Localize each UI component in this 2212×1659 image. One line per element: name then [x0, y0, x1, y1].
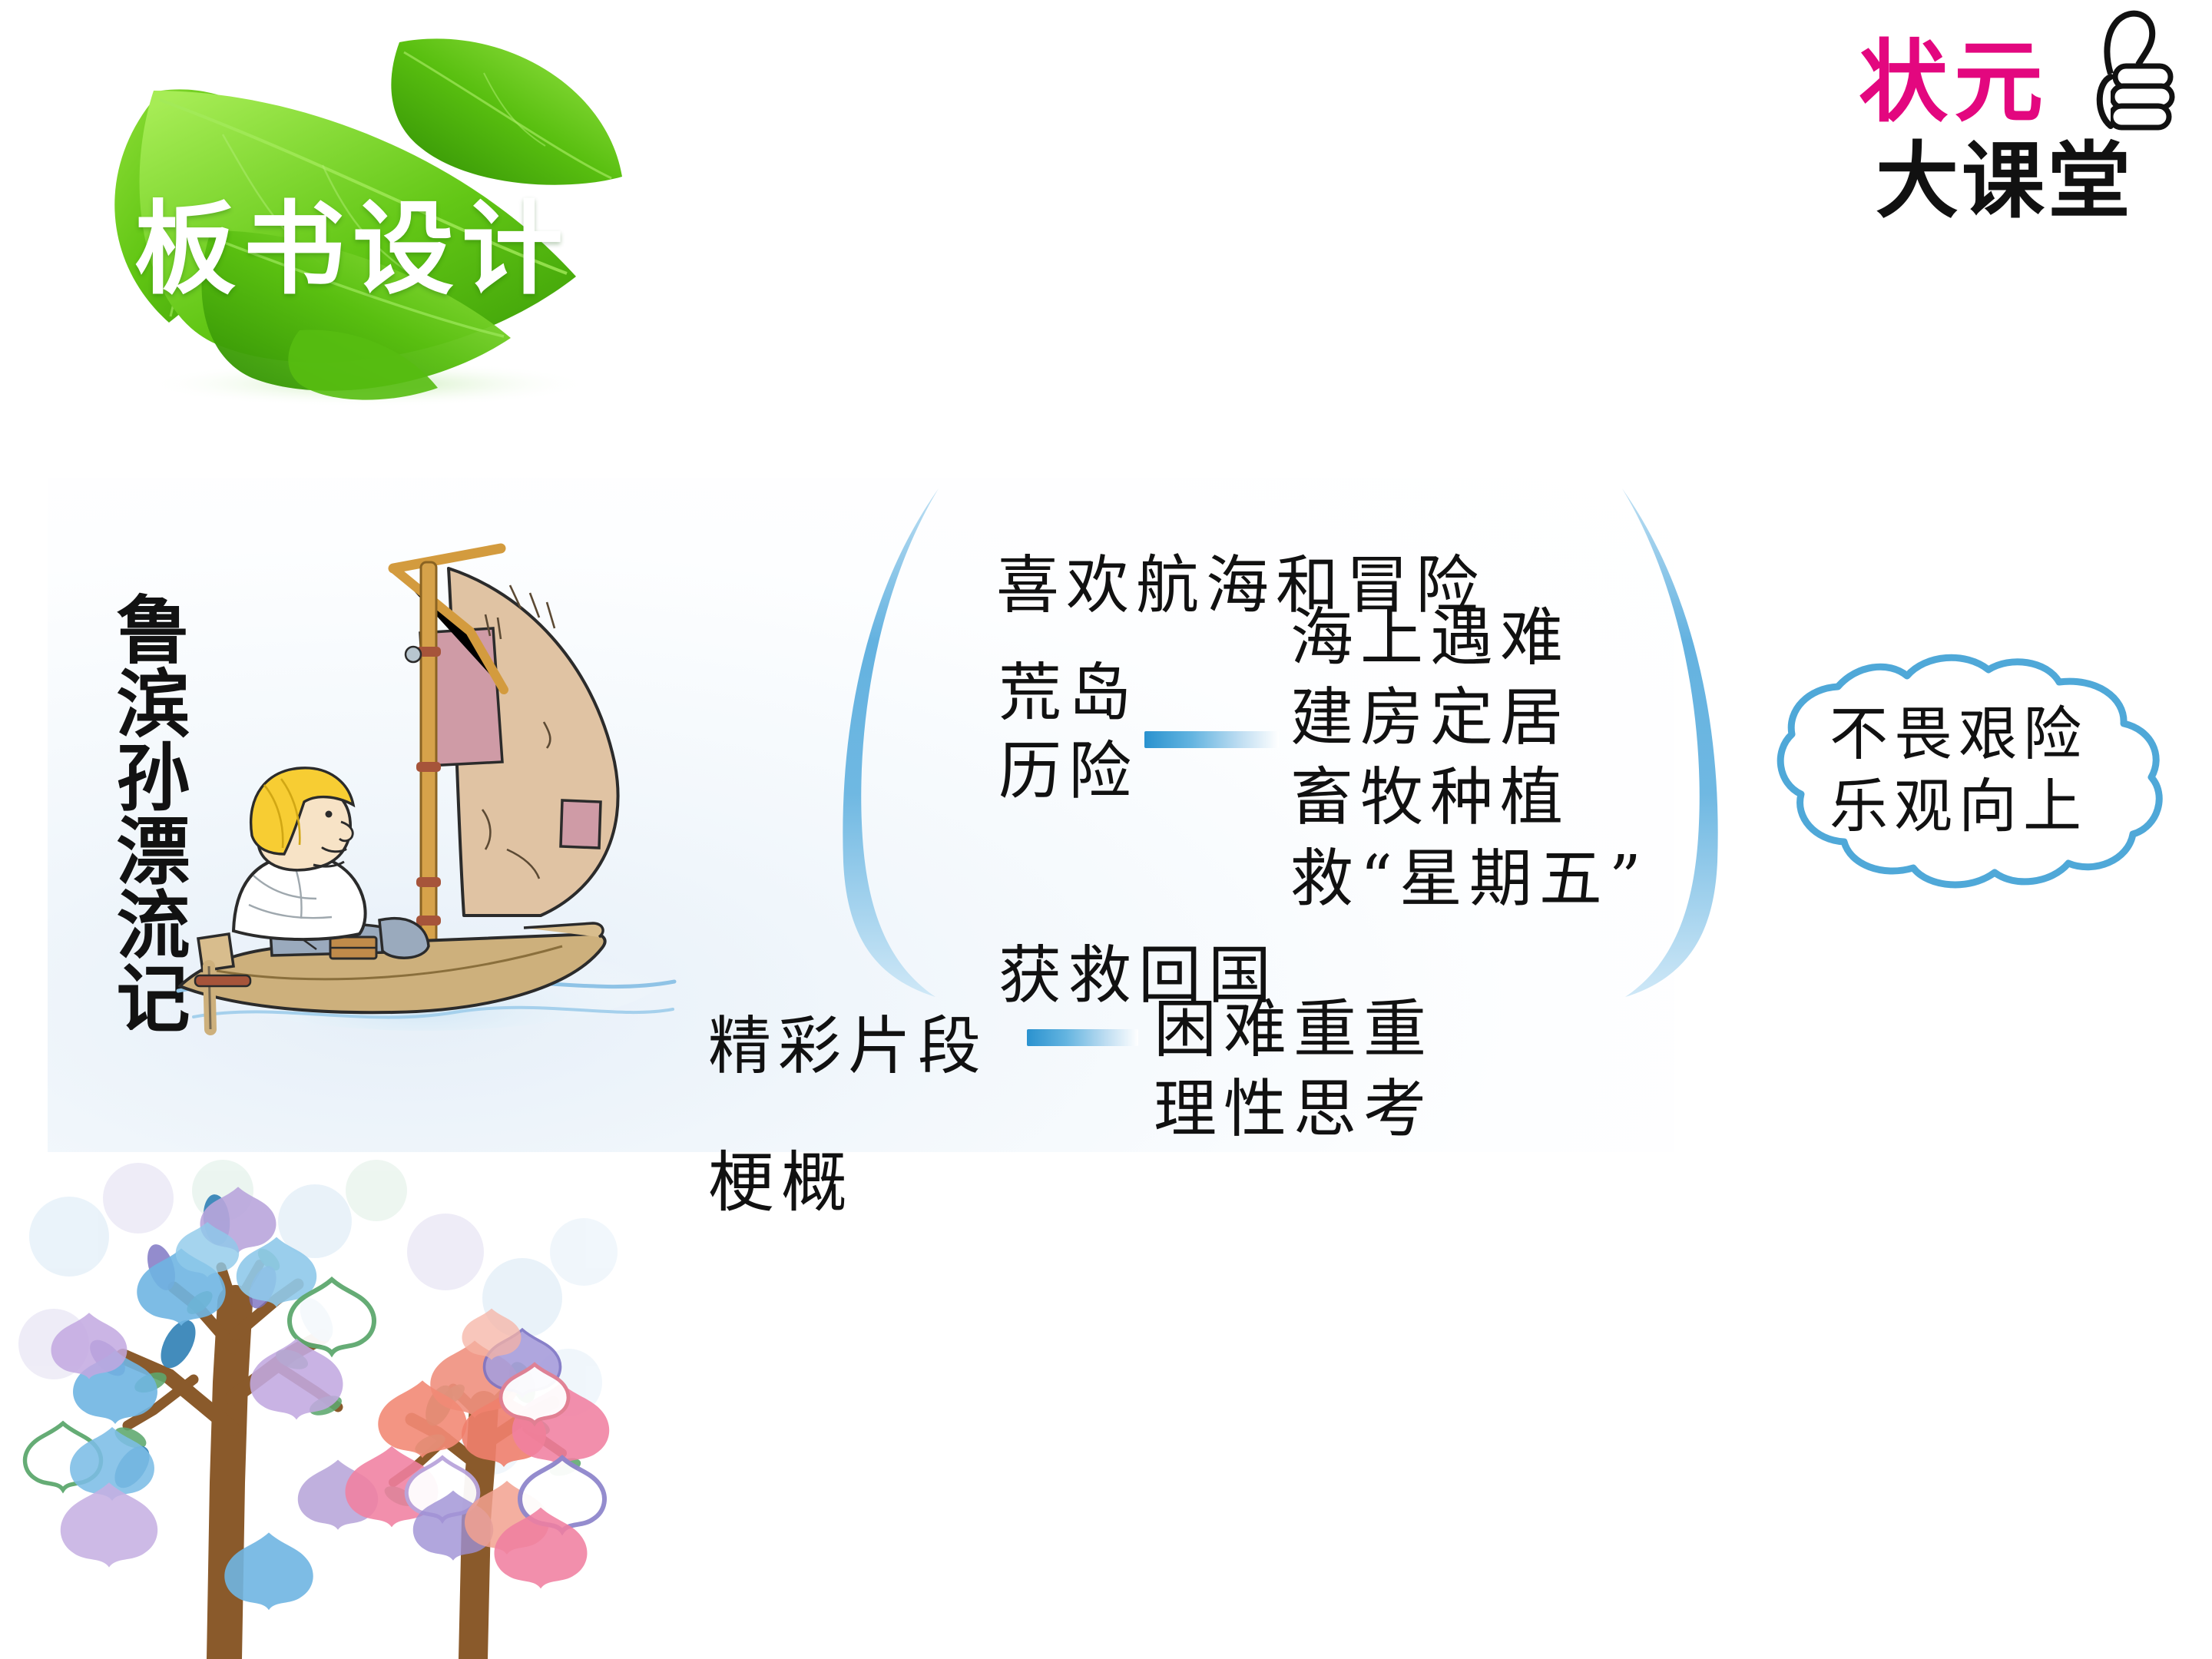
large-right-paren-icon	[1607, 485, 1737, 1000]
blossom-trees-icon	[15, 1152, 630, 1659]
excerpt-item-1: 理性思考	[1154, 1078, 1433, 1141]
summary-label: 梗概	[708, 1150, 854, 1216]
excerpt-label: 精彩片段	[708, 1015, 988, 1078]
island-label-line1: 荒岛	[998, 662, 1138, 725]
board-panel: 鲁滨孙漂流记	[48, 478, 1674, 1152]
excerpt-connector-bar	[1027, 1029, 1138, 1046]
island-connector-bar	[1144, 731, 1279, 748]
sailboat-castaway-icon	[163, 531, 685, 1054]
cloud-line-2: 乐观向上	[1830, 777, 2088, 836]
excerpt-item-0: 困难重重	[1154, 998, 1433, 1061]
island-label-line2: 历险	[998, 740, 1138, 803]
island-detail-2: 畜牧种植	[1290, 767, 1570, 829]
island-detail-3: 救“星期五”	[1290, 848, 1648, 911]
cloud-text-block: 不畏艰险 乐观向上	[1724, 644, 2193, 897]
cloud-line-1: 不畏艰险	[1830, 705, 2088, 763]
thought-cloud-icon: 不畏艰险 乐观向上	[1724, 644, 2193, 897]
brand-name-secondary: 大课堂	[1876, 141, 2134, 224]
large-left-paren-icon	[823, 485, 954, 1000]
brand-logo: 状元 大课堂	[1853, 6, 2183, 252]
brand-name-primary: 状元	[1859, 38, 2049, 127]
island-detail-0: 海上遇难	[1290, 607, 1570, 670]
page-title: 板书设计	[134, 167, 571, 314]
thumbs-up-icon	[2071, 6, 2178, 152]
island-detail-1: 建房定居	[1290, 687, 1570, 750]
